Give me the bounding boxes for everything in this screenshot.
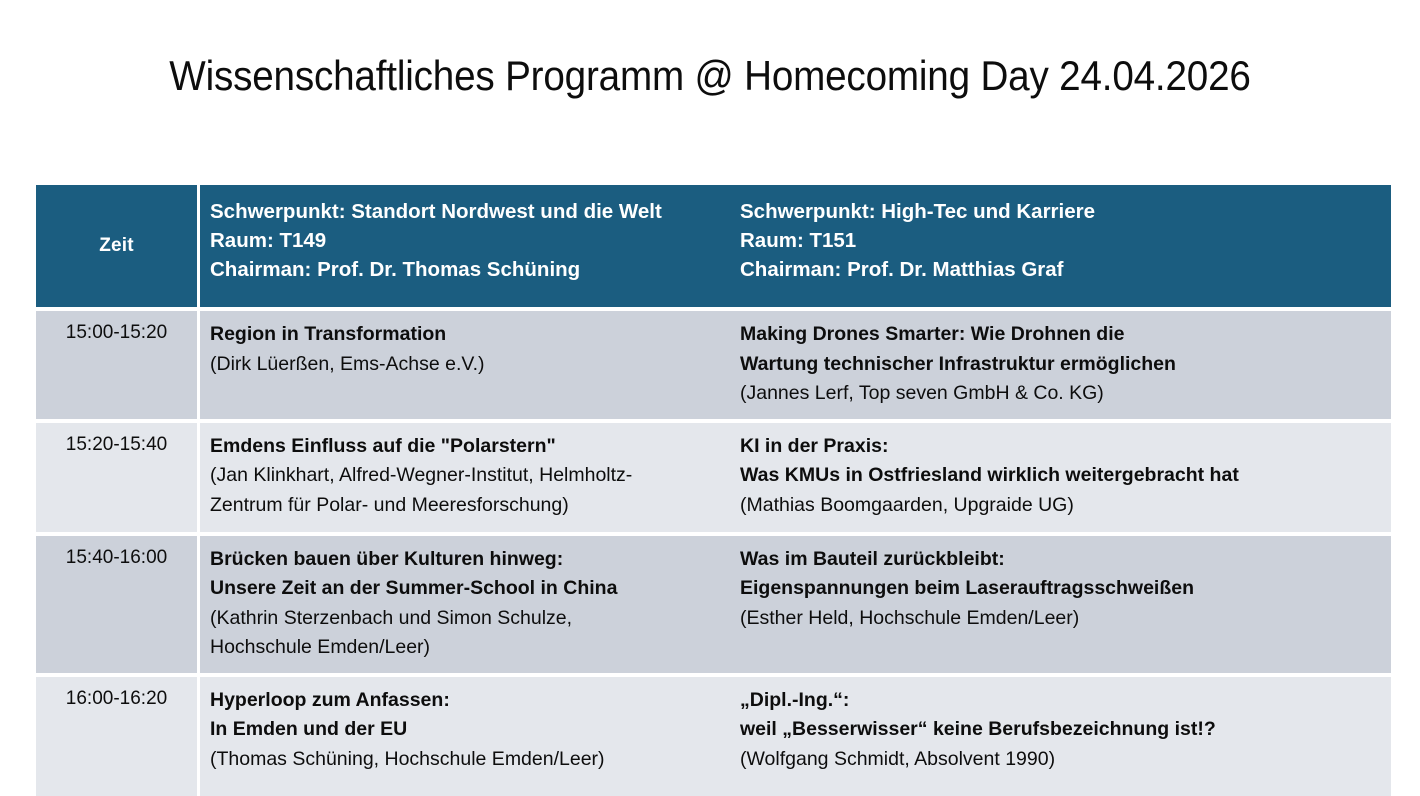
session-title-line: Was im Bauteil zurückbleibt: bbox=[740, 545, 1381, 575]
row-time: 15:20-15:40 bbox=[36, 419, 200, 532]
header-row: Zeit Schwerpunkt: Standort Nordwest und … bbox=[36, 185, 1391, 307]
session-title-line: Eigenspannungen beim Laserauftragsschwei… bbox=[740, 574, 1381, 604]
session-cell-track-2: KI in der Praxis: Was KMUs in Ostfriesla… bbox=[730, 419, 1391, 532]
slide-page: Wissenschaftliches Programm @ Homecoming… bbox=[0, 0, 1420, 744]
session-author-line: (Thomas Schüning, Hochschule Emden/Leer) bbox=[210, 745, 720, 775]
column-header-track-2: Schwerpunkt: High-Tec und Karriere Raum:… bbox=[730, 185, 1391, 307]
session-author-line: (Dirk Lüerßen, Ems-Achse e.V.) bbox=[210, 350, 720, 380]
session-title-line: Brücken bauen über Kulturen hinweg: bbox=[210, 545, 720, 575]
table-header: Zeit Schwerpunkt: Standort Nordwest und … bbox=[36, 185, 1391, 307]
track-1-room: Raum: T149 bbox=[210, 226, 720, 255]
session-cell-track-1: Hyperloop zum Anfassen: In Emden und der… bbox=[200, 673, 730, 796]
session-cell-track-1: Brücken bauen über Kulturen hinweg: Unse… bbox=[200, 532, 730, 673]
session-title-line: Making Drones Smarter: Wie Drohnen die bbox=[740, 320, 1381, 350]
session-title-line: weil „Besserwisser“ keine Berufsbezeichn… bbox=[740, 715, 1381, 745]
track-2-room: Raum: T151 bbox=[740, 226, 1381, 255]
session-title-line: KI in der Praxis: bbox=[740, 432, 1381, 462]
track-1-focus: Schwerpunkt: Standort Nordwest und die W… bbox=[210, 197, 720, 226]
session-author-line: (Wolfgang Schmidt, Absolvent 1990) bbox=[740, 745, 1381, 775]
session-author-line: Zentrum für Polar- und Meeresforschung) bbox=[210, 491, 720, 521]
column-header-time: Zeit bbox=[36, 185, 200, 307]
session-cell-track-2: Making Drones Smarter: Wie Drohnen die W… bbox=[730, 307, 1391, 419]
session-cell-track-2: Was im Bauteil zurückbleibt: Eigenspannu… bbox=[730, 532, 1391, 673]
table-body: 15:00-15:20 Region in Transformation (Di… bbox=[36, 307, 1391, 796]
track-2-chairman: Chairman: Prof. Dr. Matthias Graf bbox=[740, 255, 1381, 284]
row-time: 16:00-16:20 bbox=[36, 673, 200, 796]
session-author-line: (Mathias Boomgaarden, Upgraide UG) bbox=[740, 491, 1381, 521]
page-title: Wissenschaftliches Programm @ Homecoming… bbox=[57, 52, 1363, 100]
session-author-line: Hochschule Emden/Leer) bbox=[210, 633, 720, 663]
column-header-track-1: Schwerpunkt: Standort Nordwest und die W… bbox=[200, 185, 730, 307]
table-row: 16:00-16:20 Hyperloop zum Anfassen: In E… bbox=[36, 673, 1391, 796]
session-title-line: Hyperloop zum Anfassen: bbox=[210, 686, 720, 716]
session-cell-track-1: Emdens Einfluss auf die "Polarstern" (Ja… bbox=[200, 419, 730, 532]
session-cell-track-1: Region in Transformation (Dirk Lüerßen, … bbox=[200, 307, 730, 419]
session-title-line: „Dipl.-Ing.“: bbox=[740, 686, 1381, 716]
session-title-line: Wartung technischer Infrastruktur ermögl… bbox=[740, 350, 1381, 380]
track-2-focus: Schwerpunkt: High-Tec und Karriere bbox=[740, 197, 1381, 226]
track-1-chairman: Chairman: Prof. Dr. Thomas Schüning bbox=[210, 255, 720, 284]
session-title-line: Unsere Zeit an der Summer-School in Chin… bbox=[210, 574, 720, 604]
row-time: 15:40-16:00 bbox=[36, 532, 200, 673]
table-row: 15:40-16:00 Brücken bauen über Kulturen … bbox=[36, 532, 1391, 673]
session-title-line: Region in Transformation bbox=[210, 320, 720, 350]
session-cell-track-2: „Dipl.-Ing.“: weil „Besserwisser“ keine … bbox=[730, 673, 1391, 796]
session-author-line: (Jannes Lerf, Top seven GmbH & Co. KG) bbox=[740, 379, 1381, 409]
session-title-line: In Emden und der EU bbox=[210, 715, 720, 745]
table-row: 15:20-15:40 Emdens Einfluss auf die "Pol… bbox=[36, 419, 1391, 532]
session-author-line: (Jan Klinkhart, Alfred-Wegner-Institut, … bbox=[210, 461, 720, 491]
row-time: 15:00-15:20 bbox=[36, 307, 200, 419]
session-author-line: (Kathrin Sterzenbach und Simon Schulze, bbox=[210, 604, 720, 634]
session-title-line: Was KMUs in Ostfriesland wirklich weiter… bbox=[740, 461, 1381, 491]
session-author-line: (Esther Held, Hochschule Emden/Leer) bbox=[740, 604, 1381, 634]
session-title-line: Emdens Einfluss auf die "Polarstern" bbox=[210, 432, 720, 462]
program-schedule-table: Zeit Schwerpunkt: Standort Nordwest und … bbox=[36, 185, 1391, 796]
table-row: 15:00-15:20 Region in Transformation (Di… bbox=[36, 307, 1391, 419]
